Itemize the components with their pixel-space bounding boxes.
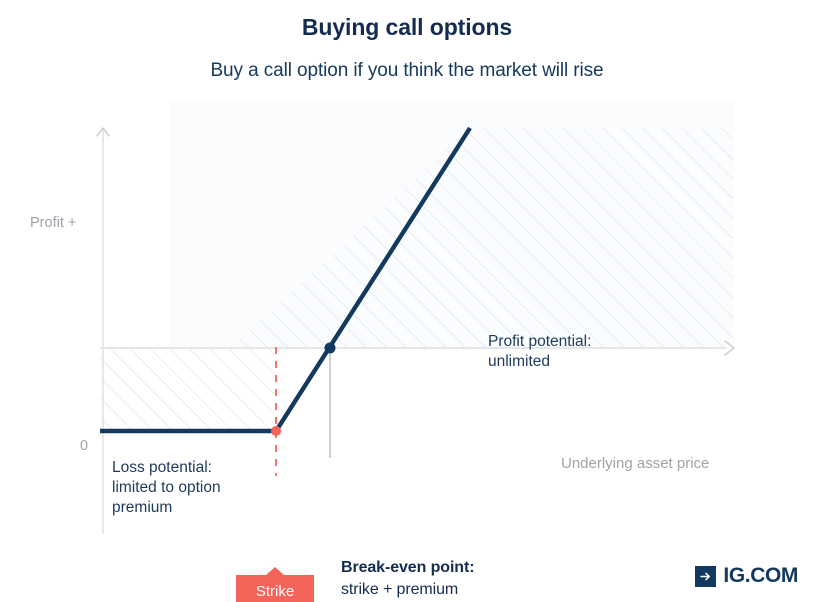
loss-potential-annotation: Loss potential: limited to option premiu… [112,458,221,518]
x-axis-label: Underlying asset price [561,455,709,472]
strike-price-callout: Strike price [236,575,314,602]
loss-region-hatch [100,348,276,431]
arrow-right-icon [695,566,716,587]
y-axis-top-label: Profit + [30,215,76,231]
breakeven-annotation-title: Break-even point: [341,557,474,579]
breakeven-point-marker [325,343,336,354]
breakeven-annotation-subtitle: strike + premium [341,579,474,601]
breakeven-annotation: Break-even point: strike + premium [341,557,474,601]
profit-potential-annotation: Profit potential: unlimited [488,332,591,372]
ig-logo[interactable]: IG.COM [695,564,798,588]
slide-root: Buying call options Buy a call option if… [0,0,814,602]
payoff-chart: Profit + 0 Loss − Underlying asset price… [0,100,814,555]
ig-logo-text: IG.COM [723,564,798,588]
page-title: Buying call options [0,14,814,41]
y-axis-zero-label: 0 [80,438,88,454]
strike-price-marker [271,426,281,436]
page-subtitle: Buy a call option if you think the marke… [0,60,814,82]
